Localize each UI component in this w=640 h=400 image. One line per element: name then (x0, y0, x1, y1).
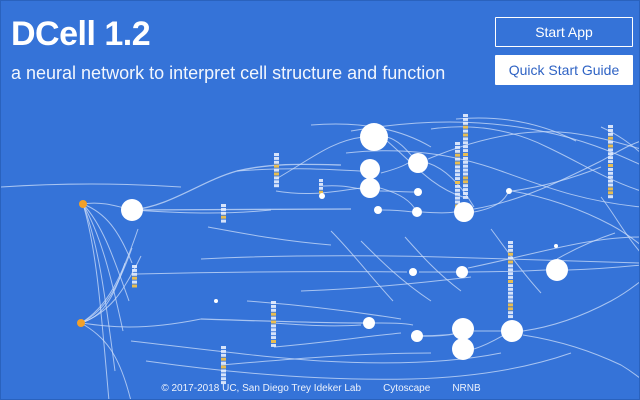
content-layer: DCell 1.2 a neural network to interpret … (1, 1, 640, 400)
start-app-button[interactable]: Start App (495, 17, 633, 47)
footer: © 2017-2018 UC, San Diego Trey Ideker La… (1, 381, 640, 395)
page-title: DCell 1.2 (11, 17, 150, 51)
quick-start-guide-button[interactable]: Quick Start Guide (495, 55, 633, 85)
footer-link-nrnb[interactable]: NRNB (452, 383, 480, 394)
dcell-landing-page: DCell 1.2 a neural network to interpret … (0, 0, 640, 400)
footer-copyright: © 2017-2018 UC, San Diego Trey Ideker La… (161, 383, 361, 394)
footer-link-cytoscape[interactable]: Cytoscape (383, 383, 430, 394)
page-subtitle: a neural network to interpret cell struc… (11, 64, 445, 82)
